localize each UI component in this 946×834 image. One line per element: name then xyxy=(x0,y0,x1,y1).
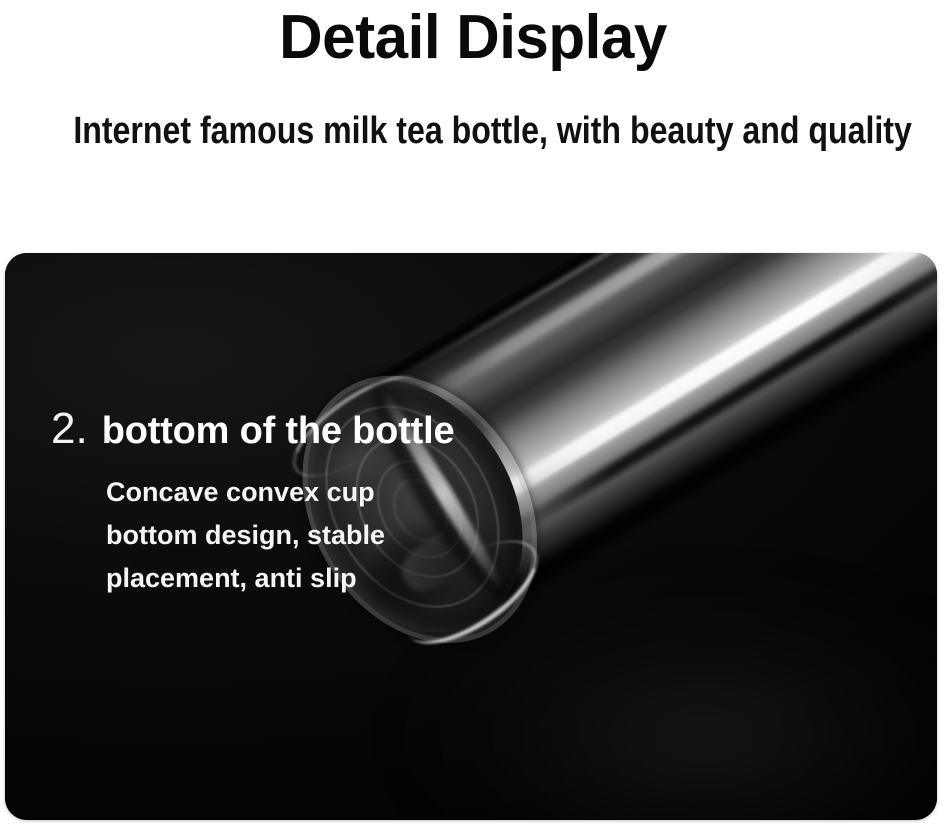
caption-step-number: 2. xyxy=(51,405,88,453)
product-photo-panel: 2. bottom of the bottle Concave convex c… xyxy=(5,253,937,820)
photo-caption: 2. bottom of the bottle Concave convex c… xyxy=(51,405,531,600)
page-subtitle: Internet famous milk tea bottle, with be… xyxy=(73,105,872,157)
caption-body-text: Concave convex cup bottom design, stable… xyxy=(51,471,436,600)
caption-title: bottom of the bottle xyxy=(102,407,455,455)
detail-display-page: Detail Display Internet famous milk tea … xyxy=(0,0,946,834)
header-section: Detail Display Internet famous milk tea … xyxy=(0,0,946,240)
caption-heading-row: 2. bottom of the bottle xyxy=(51,405,531,455)
page-title: Detail Display xyxy=(14,2,932,74)
